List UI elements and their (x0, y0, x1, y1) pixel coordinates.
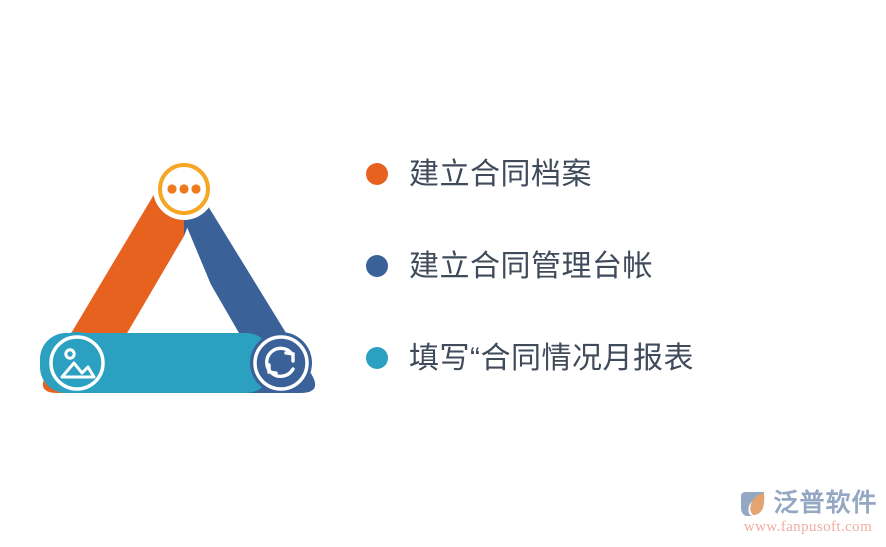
triangle-cycle-diagram (34, 148, 324, 393)
node-bottom-left-disc (46, 332, 108, 393)
fanpu-logo-icon (738, 490, 768, 518)
node-bottom-right-disc (250, 332, 312, 393)
bullet-label: 建立合同档案 (409, 158, 592, 191)
bullet-dot-icon (366, 255, 388, 277)
list-item: 建立合同管理台帐 (366, 220, 866, 312)
node-bottom-right (250, 332, 312, 393)
node-top (153, 158, 215, 220)
node-bottom-left (46, 332, 108, 393)
bullet-label: 填写“合同情况月报表 (409, 342, 694, 375)
three-dots-icon (167, 184, 200, 193)
screenshot-canvas: 建立合同档案 建立合同管理台帐 填写“合同情况月报表 泛普软件 www.fanp… (0, 0, 886, 547)
bullet-label: 建立合同管理台帐 (409, 250, 653, 283)
watermark-brand-row: 泛普软件 (738, 490, 877, 518)
watermark-brand-name: 泛普软件 (773, 491, 877, 516)
bullet-dot-icon (366, 347, 388, 369)
list-item: 填写“合同情况月报表 (366, 312, 866, 404)
bullet-dot-icon (366, 163, 388, 185)
list-item: 建立合同档案 (366, 128, 866, 220)
watermark-url: www.fanpusoft.com (744, 520, 872, 535)
bullet-list: 建立合同档案 建立合同管理台帐 填写“合同情况月报表 (366, 128, 866, 404)
watermark: 泛普软件 www.fanpusoft.com (734, 481, 882, 543)
